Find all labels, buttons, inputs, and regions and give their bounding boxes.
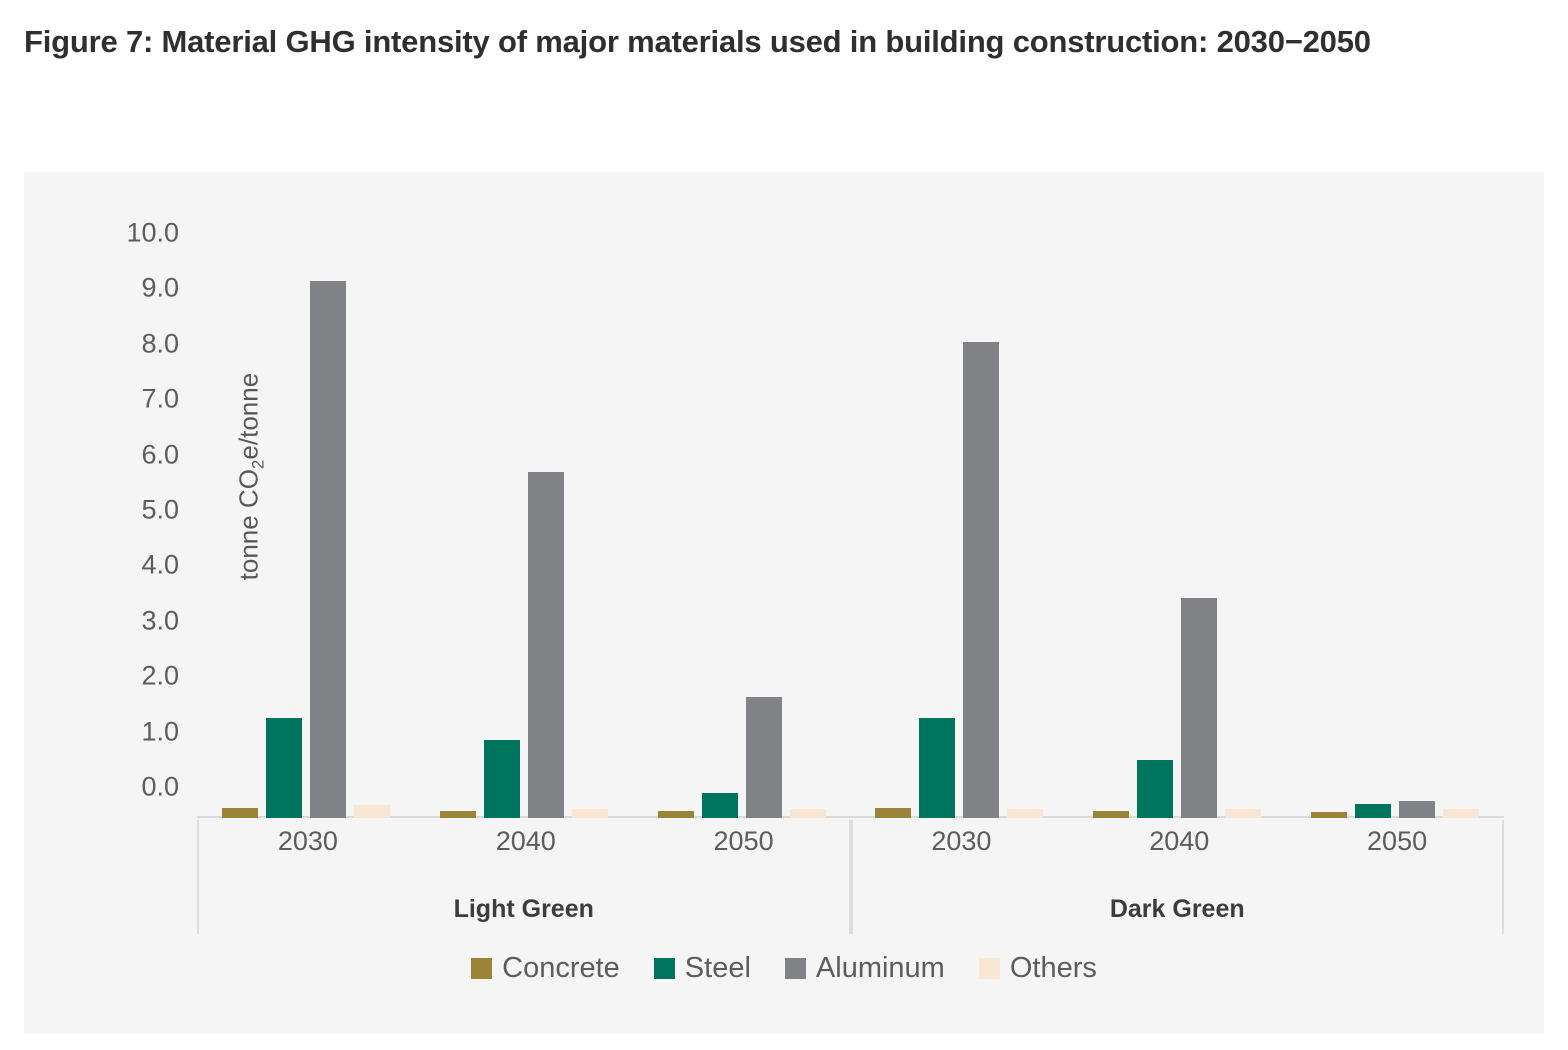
x-axis: 203020402050Light Green203020402050Dark … [197,820,1504,934]
bar-steel-dark-green-2040 [1137,760,1173,818]
bar-others-dark-green-2030 [1007,809,1043,818]
legend-item-steel[interactable]: Steel [654,954,751,983]
bar-steel-dark-green-2050 [1355,804,1391,818]
bar-aluminum-dark-green-2030 [963,342,999,818]
year-label-row: 203020402050 [199,826,849,872]
legend-item-concrete[interactable]: Concrete [471,954,620,983]
x-tick-label-2040: 2040 [1099,826,1259,857]
bar-aluminum-dark-green-2040 [1181,598,1217,818]
page-title: Figure 7: Material GHG intensity of majo… [24,22,1554,63]
legend-item-aluminum[interactable]: Aluminum [785,954,945,983]
x-tick-label-2050: 2050 [1317,826,1477,857]
bar-concrete-light-green-2030 [222,808,258,818]
x-axis-supergroup-light-green: 203020402050Light Green [197,820,851,934]
legend-label: Steel [685,954,751,983]
bar-others-light-green-2040 [572,809,608,818]
bar-concrete-light-green-2050 [658,811,694,818]
x-axis-group-title: Dark Green [853,895,1503,924]
bar-concrete-light-green-2040 [440,811,476,818]
chart-legend: ConcreteSteelAluminumOthers [24,954,1544,983]
y-tick-label: 1.0 [59,716,179,747]
legend-label: Concrete [502,954,620,983]
y-tick-label: 6.0 [59,439,179,470]
legend-swatch-concrete-icon [471,958,492,979]
legend-label: Aluminum [816,954,945,983]
bar-aluminum-light-green-2040 [528,472,564,818]
y-tick-label: 7.0 [59,384,179,415]
bar-others-light-green-2030 [354,805,390,818]
chart-panel: tonne CO2e/tonne 10.09.08.07.06.05.04.03… [24,172,1544,1034]
x-tick-label-2030: 2030 [228,826,388,857]
bar-others-light-green-2050 [790,809,826,818]
x-tick-label-2050: 2050 [664,826,824,857]
y-tick-label: 2.0 [59,661,179,692]
bar-steel-light-green-2050 [702,793,738,818]
bar-aluminum-light-green-2050 [746,697,782,818]
legend-swatch-steel-icon [654,958,675,979]
figure-page: Figure 7: Material GHG intensity of majo… [0,0,1568,1050]
y-tick-label: 9.0 [59,273,179,304]
x-axis-group-title: Light Green [199,895,849,924]
legend-swatch-others-icon [979,958,1000,979]
bar-steel-light-green-2030 [266,718,302,818]
x-tick-label-2030: 2030 [881,826,1041,857]
bar-others-dark-green-2050 [1443,809,1479,818]
y-tick-label: 4.0 [59,550,179,581]
bar-concrete-dark-green-2040 [1093,811,1129,818]
bar-others-dark-green-2040 [1225,809,1261,818]
bar-aluminum-light-green-2030 [310,281,346,818]
bar-steel-light-green-2040 [484,740,520,818]
bars-area [197,264,1504,818]
legend-swatch-aluminum-icon [785,958,806,979]
y-tick-label: 0.0 [59,772,179,803]
y-tick-label: 5.0 [59,495,179,526]
plot-area: tonne CO2e/tonne 10.09.08.07.06.05.04.03… [197,244,1504,838]
bar-concrete-dark-green-2030 [875,808,911,818]
year-label-row: 203020402050 [853,826,1503,872]
legend-label: Others [1010,954,1097,983]
y-tick-label: 8.0 [59,328,179,359]
legend-item-others[interactable]: Others [979,954,1097,983]
x-tick-label-2040: 2040 [446,826,606,857]
x-axis-supergroup-dark-green: 203020402050Dark Green [851,820,1505,934]
y-tick-label: 3.0 [59,605,179,636]
bar-steel-dark-green-2030 [919,718,955,818]
bar-concrete-dark-green-2050 [1311,812,1347,818]
bar-aluminum-dark-green-2050 [1399,801,1435,818]
y-tick-label: 10.0 [59,218,179,249]
